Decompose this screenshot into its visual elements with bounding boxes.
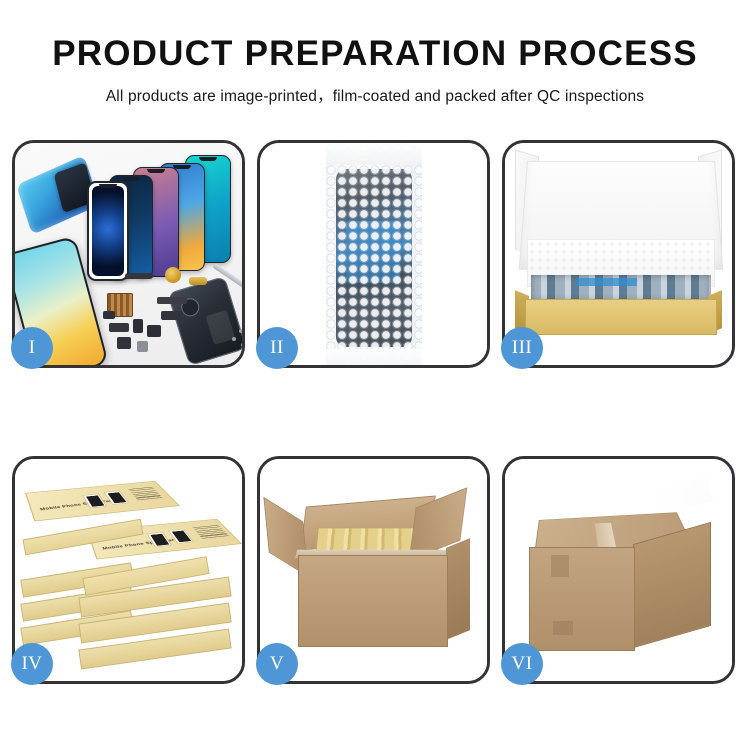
box-screen-thumbnail <box>82 494 107 509</box>
gold-coil-part <box>165 267 181 283</box>
phone-back-housing <box>167 276 242 365</box>
carton-side-right <box>446 538 470 640</box>
step-badge-3: III <box>501 327 543 369</box>
step-3-image <box>505 143 732 365</box>
phone-display-front-glass <box>87 181 129 281</box>
phone-notch <box>99 184 117 188</box>
process-step-3: III <box>502 140 735 368</box>
sealed-carton-front <box>529 547 635 651</box>
carton-patch <box>553 621 573 635</box>
process-step-5: V <box>257 456 490 684</box>
screw-icon <box>232 337 236 341</box>
step-badge-5: V <box>256 643 298 685</box>
box-spec-lines <box>128 487 163 502</box>
step-badge-2: II <box>256 327 298 369</box>
box-spec-lines <box>193 525 230 540</box>
product-preparation-infographic: PRODUCT PREPARATION PROCESS All products… <box>0 0 750 750</box>
sim-tray-part <box>137 341 148 352</box>
phone-lineup <box>81 153 231 283</box>
carton-front <box>298 555 448 647</box>
speaker-part <box>147 325 161 337</box>
step-5-image <box>260 459 487 681</box>
step-badge-6: VI <box>501 643 543 685</box>
process-step-2: II <box>257 140 490 368</box>
camera-module-part <box>117 337 131 349</box>
screw-icon <box>241 343 242 347</box>
sealed-carton-side <box>633 522 711 648</box>
box-front-kraft <box>525 299 717 335</box>
phone-notch <box>199 157 217 161</box>
spare-parts-group <box>103 267 242 363</box>
phone-notch <box>122 177 140 181</box>
process-step-4: Mobile Phone Spare Parts Mobile Phone Sp… <box>12 456 245 684</box>
phone-notch <box>147 169 165 173</box>
antenna-flex-part <box>157 297 187 304</box>
step-6-image <box>505 459 732 681</box>
page-subtitle: All products are image-printed，film-coat… <box>0 84 750 106</box>
process-steps-grid: I II <box>12 140 738 684</box>
process-step-1: I <box>12 140 245 368</box>
carton-highlight <box>653 477 714 516</box>
step-1-image <box>15 143 242 365</box>
carton-patch <box>551 555 569 577</box>
pouch-seal-bottom <box>326 349 422 365</box>
bubble-highlight-layer <box>326 143 422 365</box>
header: PRODUCT PREPARATION PROCESS All products… <box>0 0 750 106</box>
small-module-part <box>109 323 129 332</box>
step-2-image <box>260 143 487 365</box>
retail-box-lid-back: Mobile Phone Spare Parts <box>25 481 180 522</box>
step-badge-1: I <box>11 327 53 369</box>
step-badge-4: IV <box>11 643 53 685</box>
packed-parts-row <box>531 275 711 301</box>
flex-cable-part <box>125 273 153 279</box>
step-4-image: Mobile Phone Spare Parts Mobile Phone Sp… <box>15 459 242 681</box>
retail-box-stack: Mobile Phone Spare Parts Mobile Phone Sp… <box>21 475 241 675</box>
sensor-part <box>103 311 115 319</box>
page-title: PRODUCT PREPARATION PROCESS <box>0 36 750 73</box>
pouch-seal-top <box>326 143 422 165</box>
process-step-6: VI <box>502 456 735 684</box>
button-flex-part <box>161 311 183 320</box>
screw-icon <box>239 329 242 333</box>
bubble-wrap-pouch <box>326 143 422 365</box>
phone-notch <box>173 165 191 169</box>
gold-connector-part <box>189 277 207 285</box>
small-bracket-part <box>133 319 143 333</box>
